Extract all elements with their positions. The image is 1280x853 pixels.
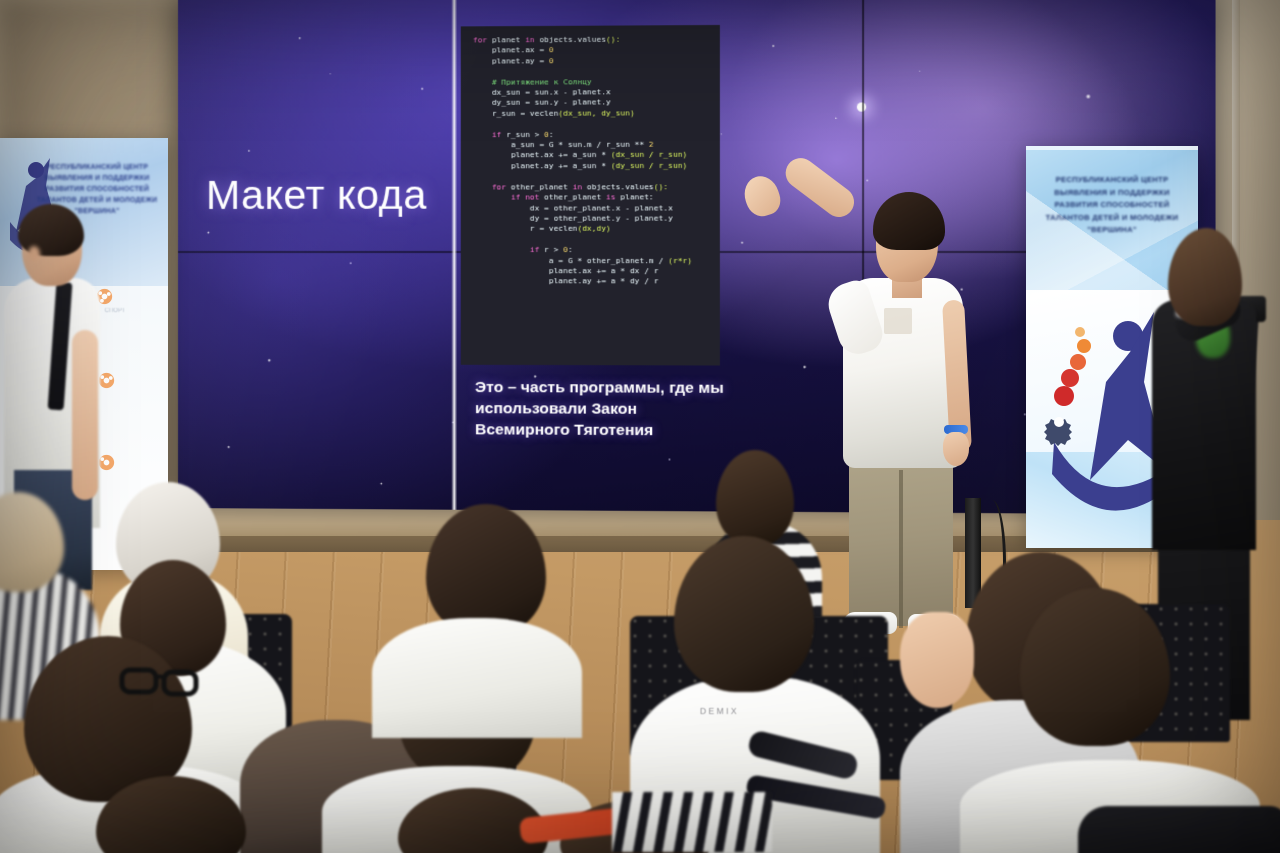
audience-hand-on-face <box>900 612 974 708</box>
slide-title: Макет кода <box>206 171 427 218</box>
ball-icon <box>98 454 115 471</box>
audience-shirt-row2-left <box>372 618 582 738</box>
banner-right-title: РЕСПУБЛИКАНСКИЙ ЦЕНТР ВЫЯВЛЕНИЯ И ПОДДЕР… <box>1036 174 1188 237</box>
glasses-icon <box>118 648 202 718</box>
code-listing: for planet in objects.values(): planet.a… <box>461 25 720 366</box>
audience-black-shoulder <box>1078 806 1280 853</box>
ball-icon <box>98 372 115 389</box>
attendee-left-ear <box>28 246 40 262</box>
audience-head-striped <box>716 450 794 546</box>
slide-caption: Это – часть программы, где мы использова… <box>475 377 730 442</box>
audience-striped-sleeve <box>612 792 772 852</box>
presenter-hand-resting <box>943 432 969 466</box>
attendee-right-hair <box>1168 228 1242 326</box>
presenter-shirt-pocket <box>884 308 912 334</box>
panel-seam-vertical-left <box>452 0 457 510</box>
attendee-left-arm <box>72 330 98 500</box>
photo-scene: Макет кода for planet in objects.values(… <box>0 0 1280 853</box>
presenter-leg-seam <box>899 470 903 628</box>
shirt-brand-label: DEMIX <box>700 706 739 716</box>
